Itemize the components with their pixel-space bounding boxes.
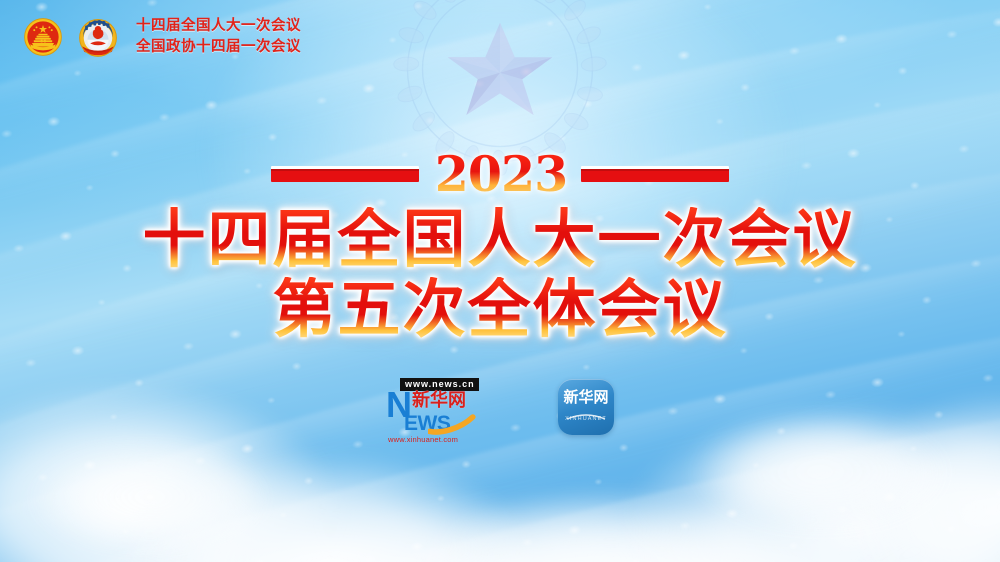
title-line-1-shadow: 十四届全国人大一次会议 <box>143 207 858 273</box>
title-line-2-shadow: 第五次全体会议 <box>273 273 728 343</box>
cppcc-emblem-icon <box>75 13 121 61</box>
header-text-block: 十四届全国人大一次会议 全国政协十四届一次会议 <box>136 18 301 55</box>
main-title-block: 2023 十四届全国人大一次会议 第五次全体会议 <box>0 148 1000 342</box>
logo-row: www.news.cn N 新华网 EWS www.xinhuanet.com … <box>0 378 1000 436</box>
rule-left <box>271 166 419 182</box>
xinhuanet-app-chinese: 新华网 <box>563 390 608 405</box>
title-line-2: 第五次全体会议 <box>273 277 728 343</box>
xinhua-news-letter-n: N <box>386 390 411 421</box>
title-line-1: 十四届全国人大一次会议 <box>143 207 858 273</box>
title-wrap: 十四届全国人大一次会议 第五次全体会议 <box>0 207 1000 342</box>
year-label: 2023 <box>435 150 567 199</box>
orange-swoosh-icon <box>428 414 476 436</box>
xinhuanet-app-logo[interactable]: 新华网 XINHUANET <box>558 379 614 435</box>
xinhua-news-url-bottom: www.xinhuanet.com <box>388 435 458 444</box>
header: 十四届全国人大一次会议 全国政协十四届一次会议 <box>20 13 301 61</box>
header-line-cppcc: 全国政协十四届一次会议 <box>136 39 301 56</box>
xinhua-news-logo[interactable]: www.news.cn N 新华网 EWS www.xinhuanet.com <box>386 378 486 436</box>
rule-right <box>581 166 729 182</box>
title-line-1-text: 十四届全国人大一次会议 <box>143 207 858 273</box>
national-emblem-of-china-icon <box>20 13 66 61</box>
title-line-2-text: 第五次全体会议 <box>273 277 728 343</box>
arc-underline-icon <box>566 412 606 421</box>
header-line-npc: 十四届全国人大一次会议 <box>136 18 301 35</box>
year-row: 2023 <box>0 148 1000 200</box>
xinhua-news-chinese: 新华网 <box>412 392 466 410</box>
poster-root: 十四届全国人大一次会议 全国政协十四届一次会议 2023 十四届全国人大一次会议… <box>0 0 1000 562</box>
xinhua-news-wordmark: N 新华网 <box>386 390 466 421</box>
